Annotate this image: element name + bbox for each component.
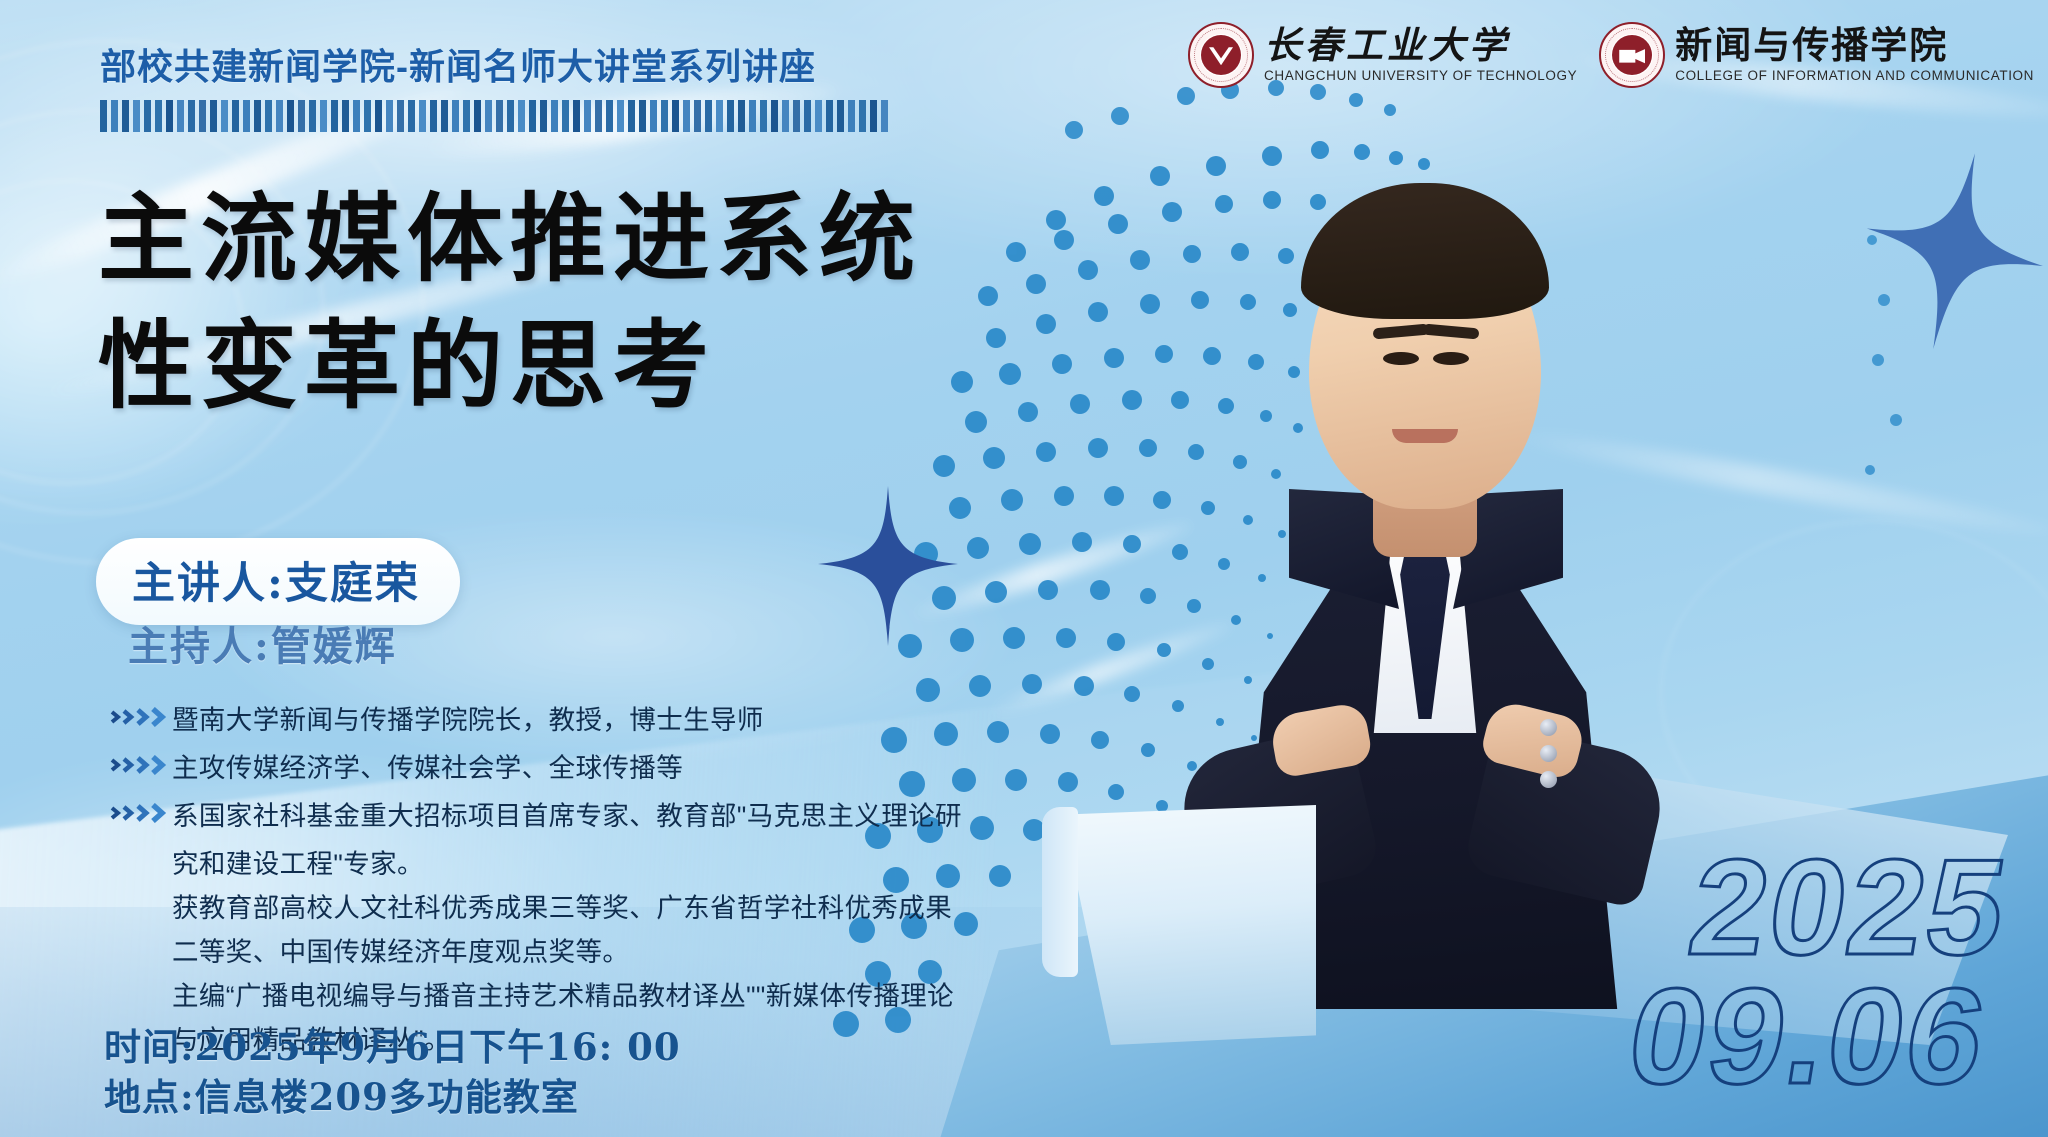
event-place: 地点:信息楼209多功能教室 bbox=[104, 1072, 681, 1122]
bio-continuation-line: 二等奖、中国传媒经济年度观点奖等。 bbox=[172, 930, 1030, 974]
college-name-en: COLLEGE OF INFORMATION AND COMMUNICATION bbox=[1675, 69, 2034, 83]
portrait-mouth bbox=[1392, 429, 1458, 443]
university-logo: 长春工业大学 CHANGCHUN UNIVERSITY OF TECHNOLOG… bbox=[1188, 22, 1577, 88]
chevron-right-icon bbox=[110, 746, 172, 775]
university-name-en: CHANGCHUN UNIVERSITY OF TECHNOLOGY bbox=[1264, 69, 1577, 83]
portrait-eye-left bbox=[1383, 352, 1419, 365]
bio-continuation-line: 主编“广播电视编导与播音主持艺术精品教材译丛""新媒体传播理论 bbox=[172, 974, 1030, 1018]
event-time: 时间:2025年9月6日下午16: 00 bbox=[104, 1022, 681, 1072]
bio-bullet-row: 暨南大学新闻与传播学院院长，教授，博士生导师 bbox=[110, 698, 1030, 742]
college-name-cn: 新闻与传播学院 bbox=[1675, 27, 2034, 64]
bio-bullet-row: 系国家社科基金重大招标项目首席专家、教育部"马克思主义理论研 bbox=[110, 794, 1030, 838]
lecture-poster: 部校共建新闻学院-新闻名师大讲堂系列讲座 长春工业大学 CHANGCHUN UN… bbox=[0, 0, 2048, 1137]
speaker-bio-list: 暨南大学新闻与传播学院院长，教授，博士生导师 主攻传媒经济学、传媒社会学、全球传… bbox=[110, 698, 1030, 1062]
chevron-right-icon bbox=[110, 794, 172, 823]
title-line-2: 性变革的思考 bbox=[98, 303, 922, 430]
portrait-hair bbox=[1301, 183, 1549, 319]
series-title: 部校共建新闻学院-新闻名师大讲堂系列讲座 bbox=[100, 38, 816, 90]
chevron-right-icon bbox=[110, 698, 172, 727]
sparkle-star-icon bbox=[1858, 152, 2048, 352]
bio-bullet-text: 暨南大学新闻与传播学院院长，教授，博士生导师 bbox=[172, 698, 764, 742]
title-line-1: 主流媒体推进系统 bbox=[98, 182, 922, 295]
bio-continuation-line: 获教育部高校人文社科优秀成果三等奖、广东省哲学社科优秀成果 bbox=[172, 886, 1030, 930]
college-logo: 新闻与传播学院 COLLEGE OF INFORMATION AND COMMU… bbox=[1599, 22, 2034, 88]
sparkle-star-icon bbox=[818, 486, 958, 646]
bio-bullet-row: 主攻传媒经济学、传媒社会学、全球传播等 bbox=[110, 746, 1030, 790]
university-name-cn: 长春工业大学 bbox=[1264, 27, 1577, 64]
bio-bullet-text: 主攻传媒经济学、传媒社会学、全球传播等 bbox=[172, 746, 683, 790]
lectern-edge bbox=[1042, 807, 1078, 977]
college-seal-icon bbox=[1599, 22, 1665, 88]
speaker-name-label: 主讲人:支庭荣 bbox=[132, 559, 420, 609]
portrait-suit-buttons bbox=[1531, 719, 1557, 797]
poster-main-title: 主流媒体推进系统 性变革的思考 bbox=[98, 176, 922, 429]
event-details: 时间:2025年9月6日下午16: 00 地点:信息楼209多功能教室 bbox=[104, 1022, 681, 1122]
bio-continuation-line: 究和建设工程"专家。 bbox=[172, 842, 1030, 886]
speaker-badge: 主讲人:支庭荣 bbox=[96, 538, 460, 625]
host-name-label: 主持人:管媛辉 bbox=[128, 614, 397, 672]
portrait-eye-right bbox=[1433, 352, 1469, 365]
barcode-divider bbox=[100, 100, 890, 132]
bio-bullet-text: 系国家社科基金重大招标项目首席专家、教育部"马克思主义理论研 bbox=[172, 794, 962, 838]
university-seal-icon bbox=[1188, 22, 1254, 88]
institution-logos: 长春工业大学 CHANGCHUN UNIVERSITY OF TECHNOLOG… bbox=[1188, 22, 2034, 88]
